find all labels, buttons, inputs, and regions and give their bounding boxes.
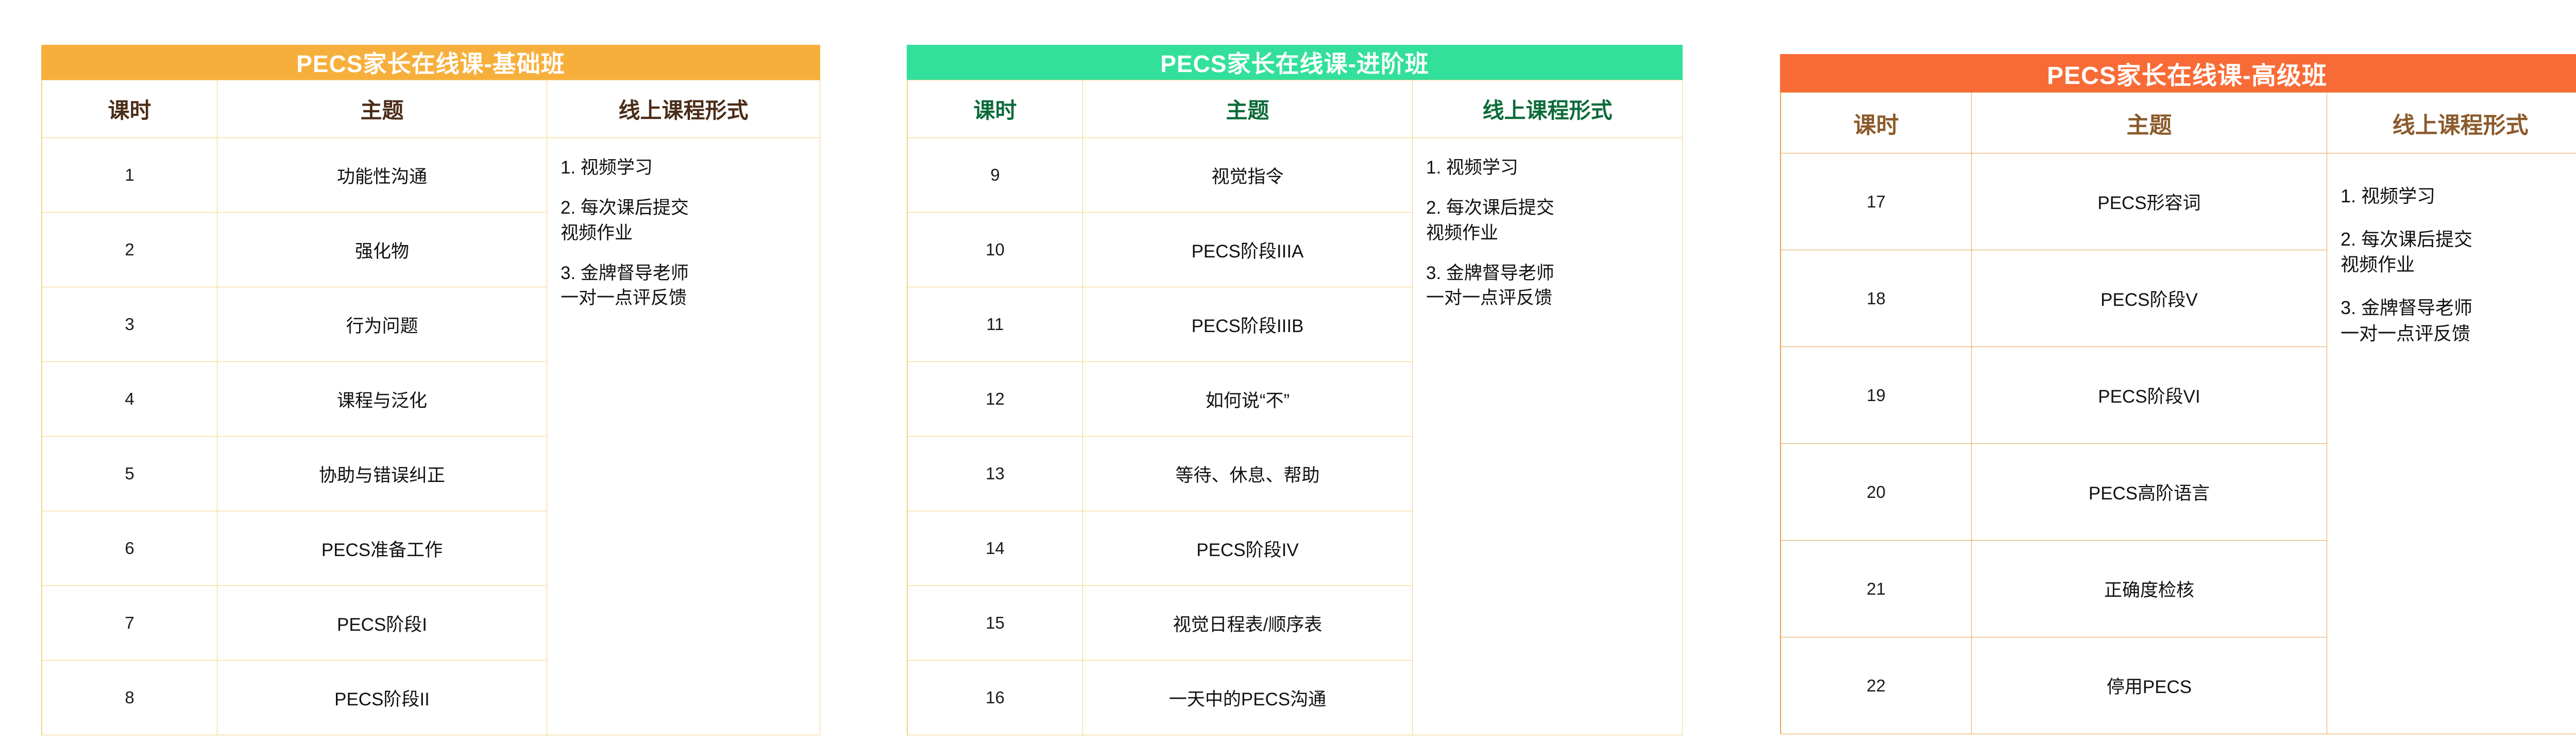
course-table-advanced: PECS家长在线课-进阶班 课时 主题 线上课程形式 9 视觉指令 1. 视频学…: [907, 45, 1683, 699]
table-row: 3: [42, 287, 217, 361]
format-line: 1. 视频学习: [2341, 183, 2435, 209]
table-row: 11: [907, 287, 1082, 361]
table-row: 15: [907, 585, 1082, 660]
column-header-session: 课时: [907, 80, 1082, 137]
format-line: 1. 视频学习: [1426, 155, 1518, 180]
table-title-advanced: PECS家长在线课-进阶班: [907, 45, 1683, 80]
table-row: 12: [907, 361, 1082, 436]
table-row: 协助与错误纠正: [217, 436, 547, 511]
table-row: PECS阶段VI: [1971, 347, 2327, 443]
format-column-expert: 1. 视频学习 2. 每次课后提交 视频作业 3. 金牌督导老师 一对一点评反馈: [2327, 153, 2576, 734]
table-row: 2: [42, 212, 217, 287]
table-row: 9: [907, 137, 1082, 212]
table-row: 强化物: [217, 212, 547, 287]
table-row: 22: [1781, 637, 1971, 734]
table-row: 18: [1781, 250, 1971, 347]
table-row: 功能性沟通: [217, 137, 547, 212]
table-row: 如何说“不”: [1082, 361, 1412, 436]
table-title-basic: PECS家长在线课-基础班: [41, 45, 820, 80]
table-row: PECS阶段V: [1971, 250, 2327, 347]
table-row: 16: [907, 660, 1082, 735]
table-row: 一天中的PECS沟通: [1082, 660, 1412, 735]
table-row: PECS高阶语言: [1971, 443, 2327, 540]
table-row: 20: [1781, 443, 1971, 540]
table-row: 7: [42, 585, 217, 660]
format-column-basic: 1. 视频学习 2. 每次课后提交 视频作业 3. 金牌督导老师 一对一点评反馈: [547, 137, 820, 735]
course-table-expert: PECS家长在线课-高级班 课时 主题 线上课程形式 17 PECS形容词 1.…: [1780, 54, 2576, 698]
table-row: 视觉指令: [1082, 137, 1412, 212]
column-header-format: 线上课程形式: [1412, 80, 1682, 137]
format-line: 3. 金牌督导老师 一对一点评反馈: [2341, 295, 2472, 346]
column-header-topic: 主题: [1971, 92, 2327, 153]
table-row: PECS形容词: [1971, 153, 2327, 250]
table-row: PECS阶段IIIB: [1082, 287, 1412, 361]
column-header-session: 课时: [42, 80, 217, 137]
table-row: 课程与泛化: [217, 361, 547, 436]
table-row: 13: [907, 436, 1082, 511]
format-line: 3. 金牌督导老师 一对一点评反馈: [561, 261, 689, 311]
table-row: 10: [907, 212, 1082, 287]
table-row: 行为问题: [217, 287, 547, 361]
format-line: 3. 金牌督导老师 一对一点评反馈: [1426, 261, 1554, 311]
table-row: 1: [42, 137, 217, 212]
format-column-advanced: 1. 视频学习 2. 每次课后提交 视频作业 3. 金牌督导老师 一对一点评反馈: [1412, 137, 1682, 735]
table-row: PECS准备工作: [217, 511, 547, 585]
table-grid-expert: 课时 主题 线上课程形式 17 PECS形容词 1. 视频学习 2. 每次课后提…: [1780, 92, 2576, 734]
column-header-session: 课时: [1781, 92, 1971, 153]
table-row: 正确度检核: [1971, 540, 2327, 637]
table-row: 17: [1781, 153, 1971, 250]
table-row: PECS阶段IIIA: [1082, 212, 1412, 287]
column-header-format: 线上课程形式: [547, 80, 820, 137]
table-grid-advanced: 课时 主题 线上课程形式 9 视觉指令 1. 视频学习 2. 每次课后提交 视频…: [907, 80, 1683, 735]
table-row: 5: [42, 436, 217, 511]
format-line: 2. 每次课后提交 视频作业: [561, 196, 689, 246]
table-row: 8: [42, 660, 217, 735]
format-line: 2. 每次课后提交 视频作业: [2341, 227, 2472, 278]
table-row: 视觉日程表/顺序表: [1082, 585, 1412, 660]
table-grid-basic: 课时 主题 线上课程形式 1 功能性沟通 1. 视频学习 2. 每次课后提交 视…: [41, 80, 820, 735]
course-table-basic: PECS家长在线课-基础班 课时 主题 线上课程形式 1 功能性沟通 1. 视频…: [41, 45, 820, 699]
column-header-topic: 主题: [217, 80, 547, 137]
table-row: 21: [1781, 540, 1971, 637]
table-title-expert: PECS家长在线课-高级班: [1780, 54, 2576, 92]
table-row: 19: [1781, 347, 1971, 443]
table-row: PECS阶段I: [217, 585, 547, 660]
table-row: 等待、休息、帮助: [1082, 436, 1412, 511]
format-line: 2. 每次课后提交 视频作业: [1426, 196, 1554, 246]
format-line: 1. 视频学习: [561, 155, 653, 180]
column-header-format: 线上课程形式: [2327, 92, 2576, 153]
table-row: 4: [42, 361, 217, 436]
table-row: PECS阶段IV: [1082, 511, 1412, 585]
table-row: 停用PECS: [1971, 637, 2327, 734]
course-tables-board: PECS家长在线课-基础班 课时 主题 线上课程形式 1 功能性沟通 1. 视频…: [0, 0, 2576, 744]
column-header-topic: 主题: [1082, 80, 1412, 137]
table-row: 14: [907, 511, 1082, 585]
table-row: PECS阶段II: [217, 660, 547, 735]
table-row: 6: [42, 511, 217, 585]
